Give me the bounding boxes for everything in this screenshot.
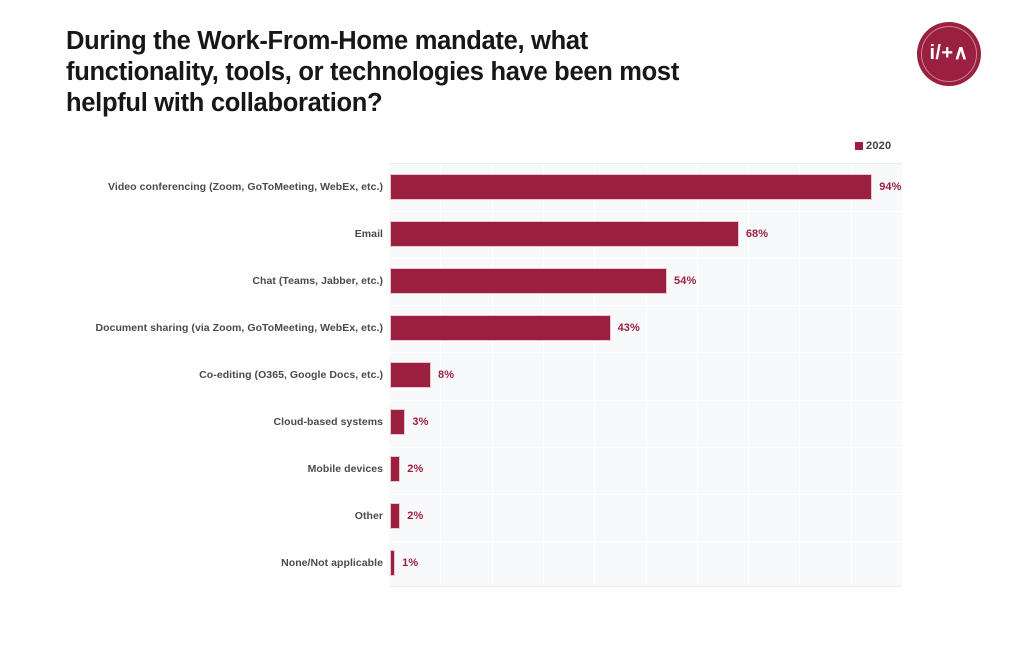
bar-row: Document sharing (via Zoom, GoToMeeting,… [0, 315, 1024, 341]
bar-row: Co-editing (O365, Google Docs, etc.)8% [0, 362, 1024, 388]
bar-row: Email68% [0, 221, 1024, 247]
bar-row: Cloud-based systems3% [0, 409, 1024, 435]
bar-category-label: Cloud-based systems [274, 409, 383, 435]
bar-value-label: 8% [438, 362, 454, 388]
bar-shape[interactable] [390, 174, 872, 200]
bar-category-label: Document sharing (via Zoom, GoToMeeting,… [95, 315, 383, 341]
bar-shape[interactable] [390, 362, 431, 388]
bar-shape[interactable] [390, 221, 739, 247]
bar-chart: Video conferencing (Zoom, GoToMeeting, W… [0, 0, 1024, 651]
bar-value-label: 68% [746, 221, 768, 247]
bar-shape[interactable] [390, 315, 611, 341]
bar-row: Chat (Teams, Jabber, etc.)54% [0, 268, 1024, 294]
bar-value-label: 2% [407, 456, 423, 482]
bar-row: None/Not applicable1% [0, 550, 1024, 576]
bar-category-label: Email [355, 221, 383, 247]
bar-row: Video conferencing (Zoom, GoToMeeting, W… [0, 174, 1024, 200]
bar-value-label: 94% [879, 174, 901, 200]
bar-value-label: 3% [412, 409, 428, 435]
bar-row: Other2% [0, 503, 1024, 529]
bar-row: Mobile devices2% [0, 456, 1024, 482]
bar-category-label: Other [355, 503, 383, 529]
bar-shape[interactable] [390, 503, 400, 529]
bars-layer: Video conferencing (Zoom, GoToMeeting, W… [0, 163, 1024, 587]
bar-shape[interactable] [390, 268, 667, 294]
bar-value-label: 54% [674, 268, 696, 294]
bar-category-label: Chat (Teams, Jabber, etc.) [252, 268, 383, 294]
bar-shape[interactable] [390, 550, 395, 576]
bar-category-label: Mobile devices [308, 456, 383, 482]
bar-category-label: Co-editing (O365, Google Docs, etc.) [199, 362, 383, 388]
bar-category-label: None/Not applicable [281, 550, 383, 576]
bar-value-label: 43% [618, 315, 640, 341]
bar-shape[interactable] [390, 456, 400, 482]
bar-value-label: 2% [407, 503, 423, 529]
bar-value-label: 1% [402, 550, 418, 576]
bar-shape[interactable] [390, 409, 405, 435]
bar-category-label: Video conferencing (Zoom, GoToMeeting, W… [108, 174, 383, 200]
